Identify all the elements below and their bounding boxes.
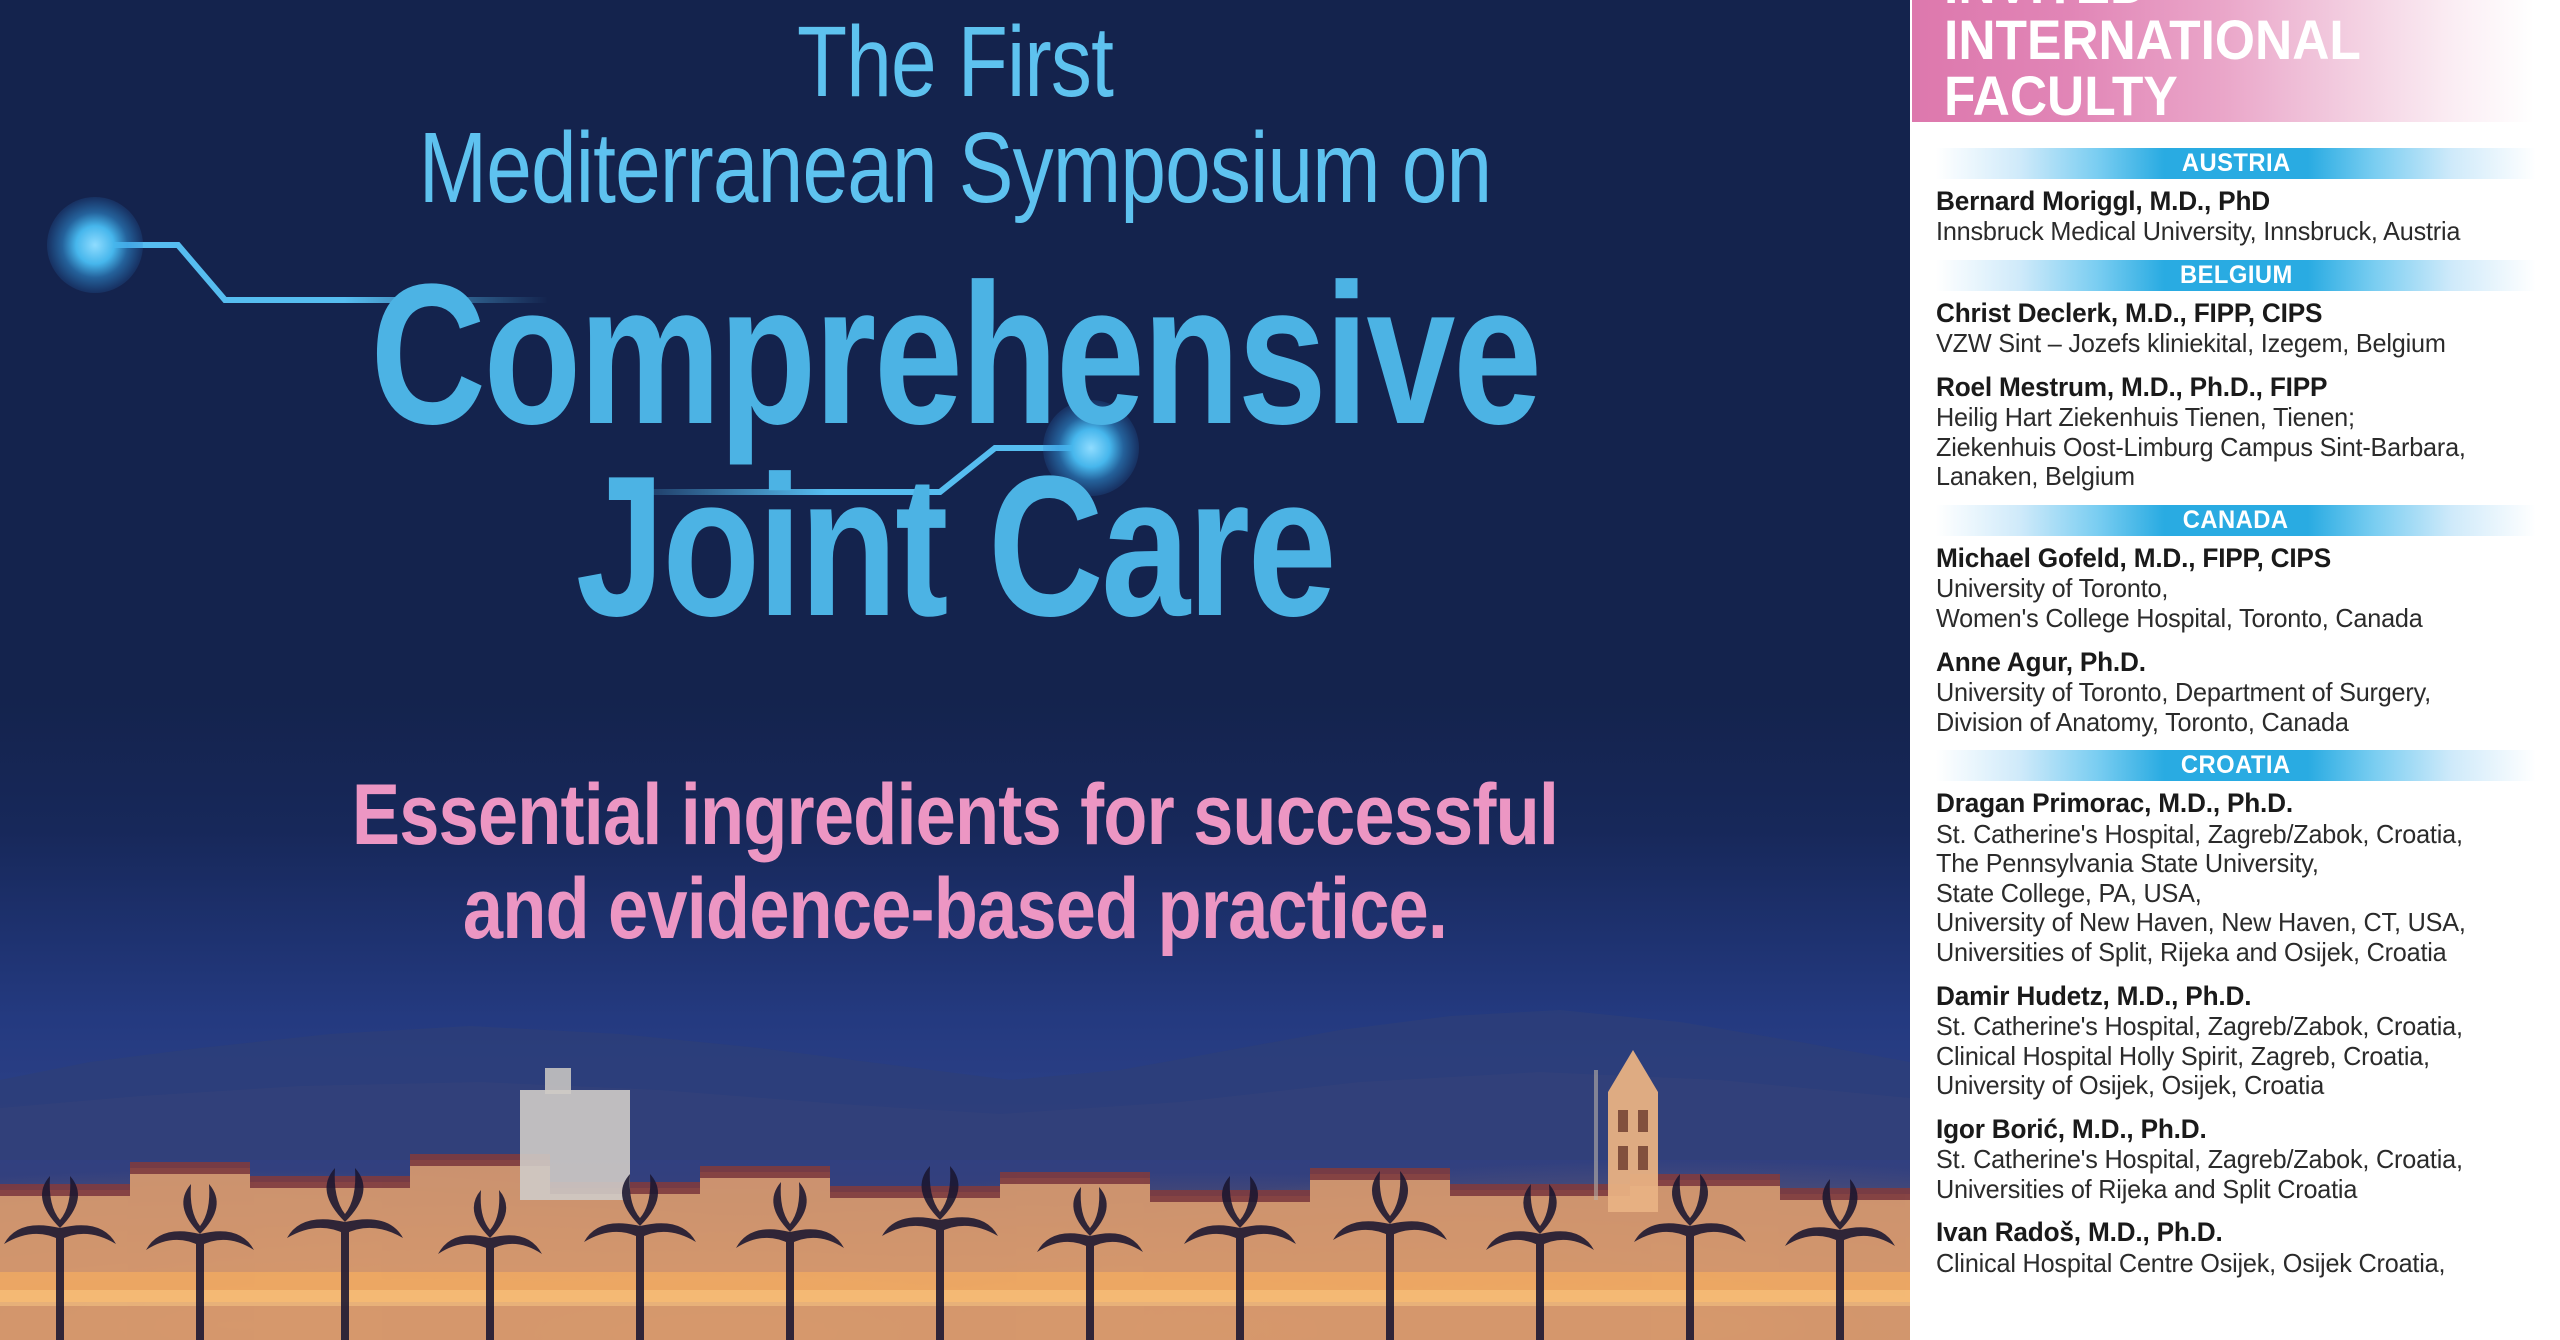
tagline-line-1: Essential ingredients for successful	[153, 642, 1757, 860]
faculty-entry: Damir Hudetz, M.D., Ph.D.St. Catherine's…	[1936, 981, 2536, 1101]
country-band: AUSTRIA	[1936, 148, 2536, 179]
country-band: CROATIA	[1936, 750, 2536, 781]
faculty-affiliation-line: Ziekenhuis Oost-Limburg Campus Sint-Barb…	[1936, 433, 2518, 463]
faculty-entry: Igor Borić, M.D., Ph.D.St. Catherine's H…	[1936, 1114, 2536, 1205]
faculty-affiliation-line: State College, PA, USA,	[1936, 879, 2518, 909]
faculty-name: Anne Agur, Ph.D.	[1936, 647, 2518, 678]
headline-line-1: Comprehensive	[191, 216, 1719, 450]
header-line-2: INTERNATIONAL	[1944, 12, 2361, 68]
faculty-entry: Dragan Primorac, M.D., Ph.D.St. Catherin…	[1936, 788, 2536, 967]
faculty-affiliation-line: St. Catherine's Hospital, Zagreb/Zabok, …	[1936, 1012, 2518, 1042]
country-band: CANADA	[1936, 505, 2536, 536]
faculty-affiliation-line: University of New Haven, New Haven, CT, …	[1936, 908, 2518, 938]
faculty-affiliation-line: University of Toronto, Department of Sur…	[1936, 678, 2518, 708]
faculty-entry: Michael Gofeld, M.D., FIPP, CIPSUniversi…	[1936, 543, 2536, 634]
faculty-entry: Anne Agur, Ph.D.University of Toronto, D…	[1936, 647, 2536, 738]
faculty-affiliation-line: Division of Anatomy, Toronto, Canada	[1936, 708, 2518, 738]
faculty-name: Igor Borić, M.D., Ph.D.	[1936, 1114, 2518, 1145]
faculty-entry: Ivan Radoš, M.D., Ph.D.Clinical Hospital…	[1936, 1217, 2536, 1278]
hero-panel: The First Mediterranean Symposium on Com…	[0, 0, 1910, 1340]
faculty-affiliation-line: Lanaken, Belgium	[1936, 462, 2518, 492]
faculty-panel: INVITED INTERNATIONAL FACULTY AUSTRIABer…	[1912, 0, 2560, 1340]
split-skyline-photo	[0, 1040, 1910, 1340]
header-line-3: FACULTY	[1944, 68, 2361, 122]
faculty-entry: Bernard Moriggl, M.D., PhDInnsbruck Medi…	[1936, 186, 2536, 247]
faculty-affiliation-line: University of Osijek, Osijek, Croatia	[1936, 1071, 2518, 1101]
kicker-line-2: Mediterranean Symposium on	[172, 110, 1738, 216]
kicker-line-1: The First	[172, 0, 1738, 110]
faculty-panel-header: INVITED INTERNATIONAL FACULTY	[1912, 0, 2560, 122]
faculty-affiliation-line: St. Catherine's Hospital, Zagreb/Zabok, …	[1936, 820, 2518, 850]
faculty-name: Michael Gofeld, M.D., FIPP, CIPS	[1936, 543, 2518, 574]
country-name: CROATIA	[2181, 751, 2291, 780]
faculty-name: Damir Hudetz, M.D., Ph.D.	[1936, 981, 2518, 1012]
faculty-affiliation-line: Women's College Hospital, Toronto, Canad…	[1936, 604, 2518, 634]
tagline-line-2: and evidence-based practice.	[153, 860, 1757, 954]
hero-text-block: The First Mediterranean Symposium on Com…	[0, 0, 1910, 953]
faculty-entry: Christ Declerk, M.D., FIPP, CIPSVZW Sint…	[1936, 298, 2536, 359]
faculty-name: Christ Declerk, M.D., FIPP, CIPS	[1936, 298, 2518, 329]
country-name: BELGIUM	[2180, 261, 2293, 290]
faculty-affiliation-line: University of Toronto,	[1936, 574, 2518, 604]
faculty-name: Dragan Primorac, M.D., Ph.D.	[1936, 788, 2518, 819]
country-name: AUSTRIA	[2182, 149, 2291, 178]
faculty-panel-header-text: INVITED INTERNATIONAL FACULTY	[1944, 0, 2361, 122]
faculty-name: Ivan Radoš, M.D., Ph.D.	[1936, 1217, 2518, 1248]
faculty-affiliation-line: VZW Sint – Jozefs kliniekital, Izegem, B…	[1936, 329, 2518, 359]
faculty-affiliation-line: Clinical Hospital Holly Spirit, Zagreb, …	[1936, 1042, 2518, 1072]
headline-line-2: Joint Care	[191, 450, 1719, 642]
faculty-name: Bernard Moriggl, M.D., PhD	[1936, 186, 2518, 217]
faculty-affiliation-line: Innsbruck Medical University, Innsbruck,…	[1936, 217, 2518, 247]
faculty-entry: Roel Mestrum, M.D., Ph.D., FIPPHeilig Ha…	[1936, 372, 2536, 492]
faculty-affiliation-line: St. Catherine's Hospital, Zagreb/Zabok, …	[1936, 1145, 2518, 1175]
faculty-name: Roel Mestrum, M.D., Ph.D., FIPP	[1936, 372, 2518, 403]
faculty-affiliation-line: Heilig Hart Ziekenhuis Tienen, Tienen;	[1936, 403, 2518, 433]
poster-page: The First Mediterranean Symposium on Com…	[0, 0, 2560, 1340]
faculty-affiliation-line: Universities of Split, Rijeka and Osijek…	[1936, 938, 2518, 968]
country-band: BELGIUM	[1936, 260, 2536, 291]
country-name: CANADA	[2183, 506, 2289, 535]
faculty-affiliation-line: Clinical Hospital Centre Osijek, Osijek …	[1936, 1249, 2518, 1279]
faculty-list: AUSTRIABernard Moriggl, M.D., PhDInnsbru…	[1912, 122, 2560, 1278]
faculty-affiliation-line: Universities of Rijeka and Split Croatia	[1936, 1175, 2518, 1205]
faculty-affiliation-line: The Pennsylvania State University,	[1936, 849, 2518, 879]
